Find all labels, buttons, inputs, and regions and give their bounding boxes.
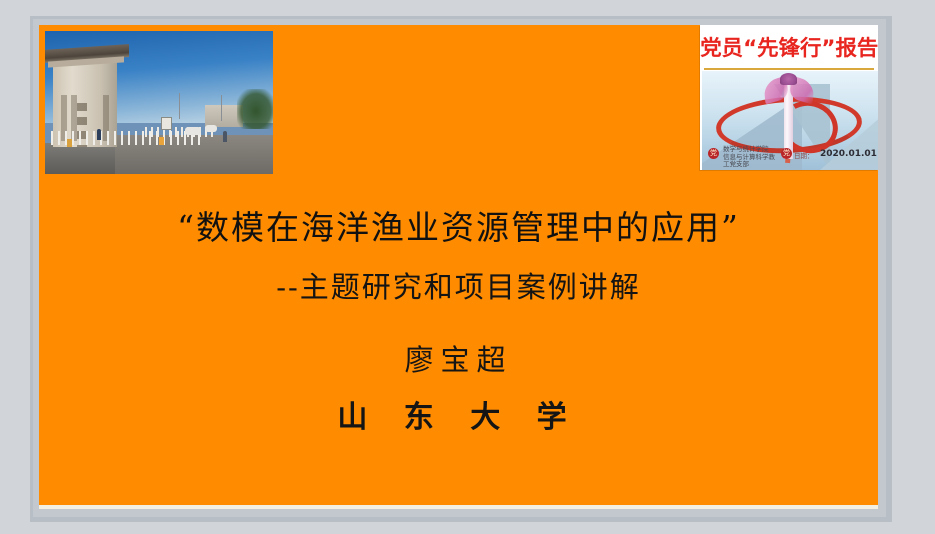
presentation-slide: 党员“先锋行”报告 党 数学与统计学院 信息与计算科学教	[39, 25, 878, 509]
photo-cone-1	[159, 137, 164, 145]
poster-monument-top	[780, 73, 797, 85]
poster-date: 2020.01.01	[820, 149, 877, 159]
photo-cone-2	[67, 139, 72, 147]
poster-footer: 党 数学与统计学院 信息与计算科学教 工党支部 党 日期： 2020.01.01	[702, 138, 878, 170]
slide-viewer: 党员“先锋行”报告 党 数学与统计学院 信息与计算科学教	[0, 0, 935, 534]
photo-person-2	[223, 131, 227, 142]
poster-date-label: 日期：	[794, 150, 814, 160]
party-seal-icon-right: 党	[781, 148, 792, 159]
photo-car-1	[185, 127, 201, 135]
photo-lamp-1	[179, 93, 180, 119]
poster-artwork: 党 数学与统计学院 信息与计算科学教 工党支部 党 日期： 2020.01.01	[702, 71, 878, 170]
slide-title: “数模在海洋渔业资源管理中的应用”	[39, 205, 878, 251]
photo-signboard	[161, 117, 172, 130]
slide-author: 廖宝超	[39, 339, 878, 381]
slide-bottom-edge	[39, 505, 878, 509]
slide-organization: 山 东 大 学	[39, 397, 878, 439]
slide-subtitle: --主题研究和项目案例讲解	[39, 265, 878, 309]
photo-lamp-2	[221, 95, 222, 121]
photo-car-2	[205, 125, 217, 132]
photo-person-1	[97, 129, 101, 140]
poster-organization: 数学与统计学院 信息与计算科学教 工党支部	[723, 146, 775, 169]
poster-org-line-3: 工党支部	[723, 161, 775, 169]
party-seal-icon-left: 党	[708, 148, 719, 159]
slide-text-block: “数模在海洋渔业资源管理中的应用” --主题研究和项目案例讲解 廖宝超 山 东 …	[39, 205, 878, 439]
poster-divider	[704, 68, 874, 70]
event-poster: 党员“先锋行”报告 党 数学与统计学院 信息与计算科学教	[700, 25, 878, 170]
poster-title-bar: 党员“先锋行”报告	[700, 27, 878, 67]
photo-far-trees	[237, 89, 273, 129]
poster-title: 党员“先锋行”报告	[700, 32, 878, 62]
campus-gate-photo	[45, 31, 273, 174]
